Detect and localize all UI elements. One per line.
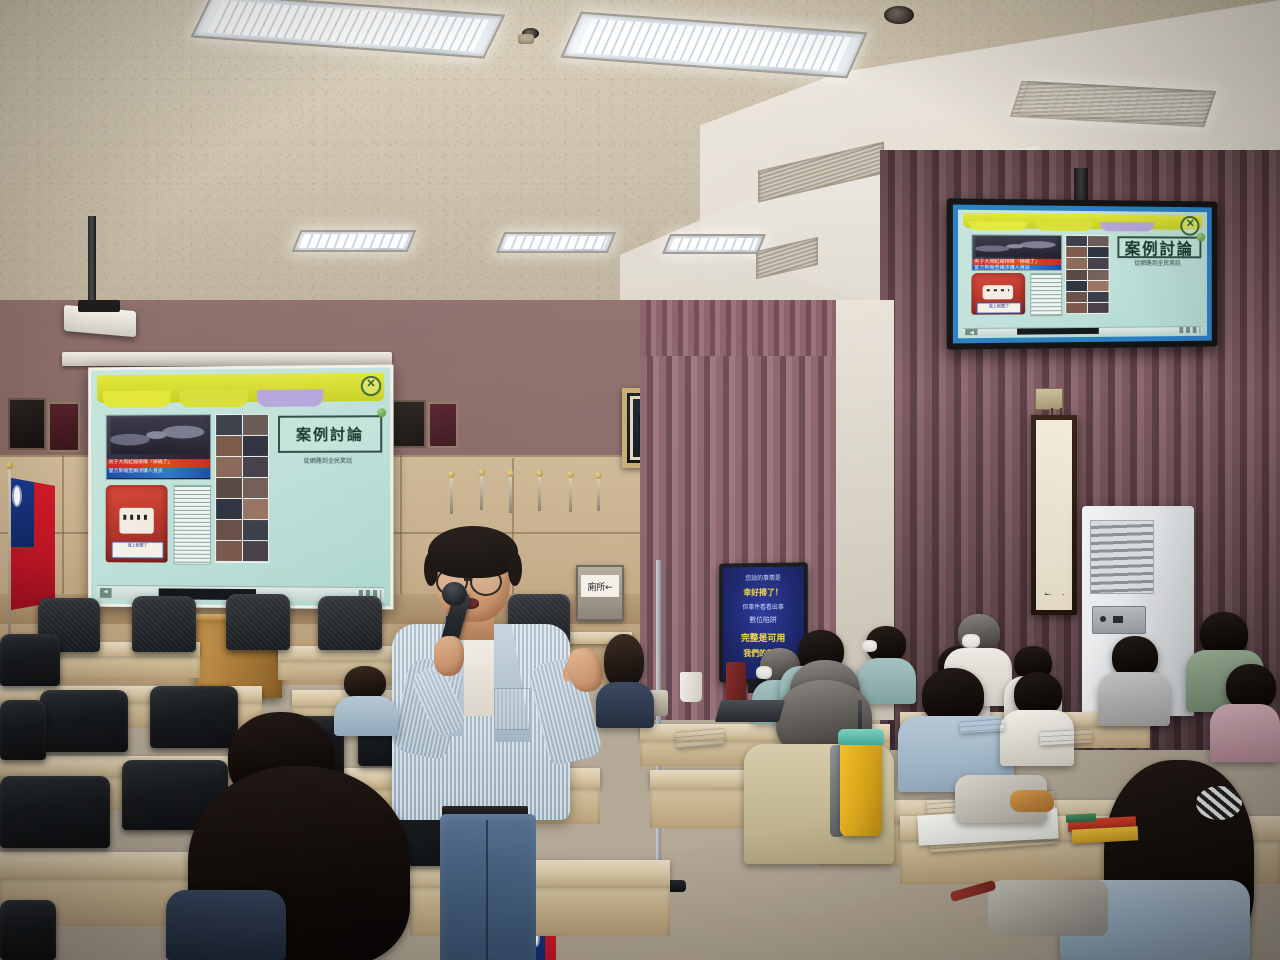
doll-placard: 我上新聞了: [976, 303, 1021, 314]
slide-image-grid: [215, 414, 269, 563]
slide-subtitle: 從網路到全民笑話: [278, 456, 378, 465]
hair-scrunchie: [1196, 786, 1242, 820]
flag-finial: [6, 462, 13, 469]
book-green[interactable]: [1066, 813, 1096, 823]
audience-body: [1210, 704, 1280, 762]
presenter-jeans: [440, 814, 536, 960]
slide-title: 案例討論: [1125, 235, 1194, 259]
flag-finial: [595, 472, 602, 479]
chair[interactable]: [0, 634, 60, 686]
calligraphy-scroll: [1031, 415, 1077, 615]
slide-page-indicator: [1179, 327, 1200, 333]
ac-control-panel[interactable]: [1092, 606, 1146, 634]
wall-dark-panel: [392, 400, 426, 448]
doll-face: [119, 508, 154, 534]
chair[interactable]: [150, 686, 238, 748]
wall-plaque: [1035, 388, 1063, 410]
slide-tab: [968, 221, 1027, 230]
ceiling-light-fixture: [292, 230, 417, 252]
slide-tab: [179, 390, 248, 407]
scroll-calligraphy-ink: [1045, 492, 1064, 595]
slide-tab: [257, 390, 323, 407]
flag-sun-emblem: [14, 487, 20, 505]
slide-footer-fill: [1017, 328, 1099, 335]
flag-pole: [480, 476, 483, 510]
audience-head: [604, 634, 644, 688]
foreground-student-body: [166, 890, 286, 960]
presenter-left-hand: [434, 636, 464, 676]
audience-body: [596, 682, 654, 728]
ceiling-light-fixture: [662, 234, 766, 254]
slide-cursor-dot: [377, 408, 386, 417]
tv-inner-frame: ✕ 男子大鬧紅線排隊「掃碼了」 警方到場查緝涉嫌人身訊 我上新聞了: [953, 205, 1212, 344]
flag-pole: [538, 477, 541, 511]
tumbler-lid[interactable]: [838, 729, 884, 745]
wall-mounted-tv: ✕ 男子大鬧紅線排隊「掃碼了」 警方到場查緝涉嫌人身訊 我上新聞了: [947, 198, 1218, 349]
flag-roc: [11, 478, 55, 610]
water-bottle[interactable]: [726, 662, 746, 704]
slide-prev-icon[interactable]: ◀: [100, 588, 112, 598]
presenter: [378, 520, 608, 960]
slide-title-box: 案例討論: [278, 415, 382, 453]
slide-news-screenshot: 男子大鬧紅線排隊「掃碼了」 警方到場查緝涉嫌人身訊: [971, 234, 1062, 271]
slide-subtitle: 從網路到全民笑話: [1117, 258, 1197, 267]
smoke-detector-icon: [884, 6, 914, 24]
insulated-tumbler[interactable]: [840, 740, 882, 836]
presenter-shirt-pocket: [494, 688, 530, 730]
doll-eyes: [986, 289, 1009, 291]
doll-placard: 我上新聞了: [112, 541, 163, 559]
panel-seam: [62, 455, 64, 595]
slide-doll-photo: 我上新聞了: [971, 273, 1025, 315]
flag-finial: [448, 471, 455, 478]
monitor-line: 完整是可用: [723, 631, 804, 644]
projection-screen: ✕ 男子大鬧紅線排隊「掃碼了」 警方到場查緝涉嫌人身訊 我上新聞了: [88, 365, 393, 610]
news-figures: [976, 237, 1058, 257]
paper-stack[interactable]: [1040, 729, 1093, 746]
ceiling-light-fixture: [496, 232, 616, 253]
wall-maroon-panel: [428, 402, 458, 448]
slide-cursor-dot: [1196, 233, 1205, 242]
flag-canton: [11, 478, 34, 547]
news-headline-line1: 男子大鬧紅線排隊「掃碼了」: [107, 459, 210, 469]
flag-finial: [507, 470, 514, 477]
flag-finial: [567, 471, 574, 478]
monitor-line: 數位陷阱: [723, 615, 804, 625]
flag-pole: [597, 479, 600, 511]
lecture-hall-photo: ✕ 男子大鬧紅線排隊「掃碼了」 警方到場查緝涉嫌人身訊 我上新聞了: [0, 0, 1280, 960]
projector-bracket: [78, 300, 120, 312]
snack-item[interactable]: [1010, 790, 1054, 812]
chair[interactable]: [226, 594, 290, 650]
tv-screen: ✕ 男子大鬧紅線排隊「掃碼了」 警方到場查緝涉嫌人身訊 我上新聞了: [958, 210, 1207, 339]
face-mask: [962, 634, 980, 648]
monitor-line: 幸好掃了！: [723, 587, 804, 599]
doll-face: [983, 285, 1013, 299]
chair[interactable]: [40, 690, 128, 752]
slide-title-box: 案例討論: [1117, 236, 1201, 258]
audience-body: [858, 658, 916, 704]
chair[interactable]: [0, 900, 56, 960]
chair[interactable]: [132, 596, 196, 652]
flag-pole: [8, 470, 11, 660]
news-headline-line2: 警方到場查緝涉嫌人身訊: [972, 264, 1061, 269]
projection-screen-case: [62, 352, 392, 366]
slide-projected: ✕ 男子大鬧紅線排隊「掃碼了」 警方到場查緝涉嫌人身訊 我上新聞了: [91, 368, 390, 607]
doll-eyes: [123, 515, 149, 519]
slide-doll-photo: 我上新聞了: [106, 485, 168, 562]
wall-dark-panel: [8, 398, 46, 450]
paper-cup[interactable]: [680, 672, 702, 702]
audience-body: [1098, 672, 1170, 726]
slide-footer-bar: ◀: [963, 326, 1202, 337]
chair[interactable]: [318, 596, 382, 650]
slide-prev-icon[interactable]: ◀: [966, 329, 978, 335]
ac-louvers: [1090, 520, 1154, 594]
news-figures: [111, 418, 206, 455]
presenter-hair: [428, 526, 518, 578]
chair[interactable]: [0, 776, 110, 848]
scroll-paper: [1036, 420, 1072, 610]
monitor-line: 您說的事情是: [723, 572, 804, 582]
flag-pole: [569, 478, 572, 512]
eyeglasses-bridge: [464, 578, 472, 581]
flag-pole: [509, 477, 512, 513]
slide-on-tv: ✕ 男子大鬧紅線排隊「掃碼了」 警方到場查緝涉嫌人身訊 我上新聞了: [958, 210, 1207, 339]
face-mask: [862, 640, 877, 652]
audience-head: [344, 666, 386, 700]
slide-tab: [1035, 222, 1093, 231]
ac-display: [1113, 616, 1123, 623]
slide-text-screenshot: [173, 485, 211, 565]
laptop[interactable]: [715, 700, 785, 722]
bag-under-desk[interactable]: [988, 880, 1108, 936]
ac-power-led: [1100, 616, 1106, 622]
slide-image-grid: [1065, 235, 1110, 315]
face-mask: [756, 666, 772, 679]
ceiling-speaker: [518, 34, 534, 44]
slide-text-screenshot: [1030, 273, 1062, 317]
presenter-jeans-seam: [486, 820, 488, 960]
news-headline-line2: 警方到場查緝涉嫌人身訊: [107, 468, 210, 478]
audience-body: [334, 696, 398, 736]
chair[interactable]: [0, 700, 46, 760]
flag-finial: [536, 470, 543, 477]
flag-finial: [478, 469, 485, 476]
wall-maroon-panel: [48, 402, 80, 452]
slide-tab: [1100, 222, 1154, 231]
slide-news-screenshot: 男子大鬧紅線排隊「掃碼了」 警方到場查緝涉嫌人身訊: [106, 414, 211, 480]
monitor-line: 但事件看看出事: [723, 602, 804, 611]
slide-title: 案例討論: [296, 424, 364, 445]
slide-tab: [103, 391, 171, 408]
flag-pole: [450, 478, 453, 514]
